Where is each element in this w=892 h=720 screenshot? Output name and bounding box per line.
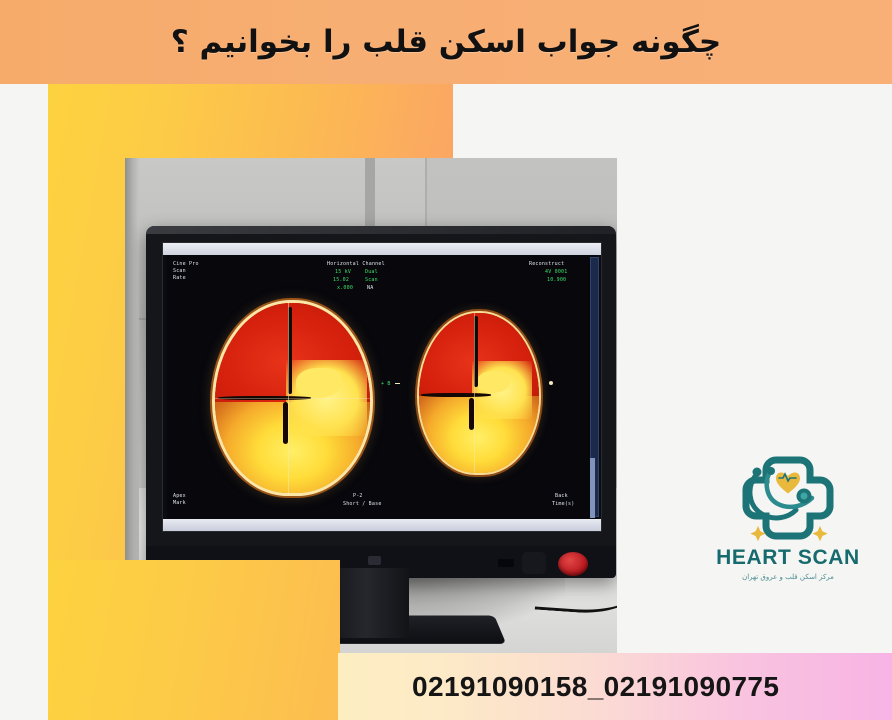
monitor-brand-logo (368, 556, 381, 565)
poster-canvas: چگونه جواب اسکن قلب را بخوانیم ؟ Cine Pr… (0, 0, 892, 720)
screen-title-reconstruct: Reconstruct (529, 261, 564, 268)
heart-scan-logo-mark (724, 452, 852, 548)
scan-scrollbar-thumb[interactable] (590, 458, 595, 518)
header-banner: چگونه جواب اسکن قلب را بخوانیم ؟ (0, 0, 892, 84)
cardiac-perfusion-scan-right (419, 313, 539, 473)
brand-logo: HEART SCAN مرکز اسکن قلب و عروق تهران (700, 452, 876, 592)
app-statusbar (163, 519, 601, 531)
scan-bright-core-right (477, 371, 511, 393)
stethoscope-earpiece-right (767, 467, 775, 475)
tick-marker-right (549, 381, 553, 385)
screen-label-scan: Scan (173, 268, 186, 275)
monitor-port (498, 559, 514, 567)
cardiac-perfusion-scan-left (215, 303, 370, 493)
screen-value-recon-1: 4V 0001 (545, 269, 567, 276)
screen-label-p2: P-2 (353, 493, 363, 500)
scan-bright-core-left (296, 368, 343, 398)
screen-value-num: 15.02 (333, 277, 349, 284)
computer-monitor: Cine Pro Scan Rate Horizontal Channel 15… (146, 226, 616, 578)
screen-value-recon-2: 10.900 (547, 277, 566, 284)
tick-marker-center (395, 383, 400, 384)
screen-title-channel: Horizontal Channel (327, 261, 385, 268)
screen-label-time: Time(s) (552, 501, 574, 508)
phone-numbers[interactable]: 02191090158_02191090775 (412, 671, 779, 703)
scan-scrollbar[interactable] (590, 257, 599, 517)
crosshair-vertical-right (474, 313, 475, 473)
scan-viewport: Cine Pro Scan Rate Horizontal Channel 15… (167, 255, 597, 519)
app-toolbar[interactable] (163, 243, 601, 255)
screen-value-dual: Dual (365, 269, 378, 276)
gold-accent-panel-lower (48, 560, 340, 720)
monitor-cable (535, 567, 617, 617)
contact-bar: 02191090158_02191090775 (338, 653, 892, 720)
screen-label-mark: Mark (173, 500, 186, 507)
logo-subtitle: مرکز اسکن قلب و عروق تهران (742, 573, 834, 581)
monitor-screen: Cine Pro Scan Rate Horizontal Channel 15… (162, 242, 602, 532)
monitor-bezel (146, 226, 616, 234)
screen-value-scan: Scan (365, 277, 378, 284)
screen-label-back: Back (555, 493, 568, 500)
logo-wordmark: HEART SCAN (716, 546, 860, 570)
heart-ecg-icon (776, 473, 800, 494)
page-title: چگونه جواب اسکن قلب را بخوانیم ؟ (171, 24, 721, 60)
screen-value-thin: x.000 (337, 285, 353, 292)
stethoscope-chestpiece-inner (801, 493, 808, 500)
crosshair-horizontal-left (215, 398, 370, 399)
stethoscope-earpiece-left (753, 468, 762, 477)
screen-marker-label: + B (381, 381, 391, 388)
screen-value-na: NA (367, 285, 373, 292)
screen-label-short-base: Short / Base (343, 501, 382, 508)
sparkle-icon-right (812, 526, 827, 541)
scan-boundary-right (421, 393, 491, 397)
screen-label-cine: Cine Pro (173, 261, 199, 268)
screen-label-rate: Rate (173, 275, 186, 282)
screen-value-kv: 15 kV (335, 269, 351, 276)
screen-label-apex: Apex (173, 493, 186, 500)
monitor-stand-neck (337, 568, 409, 638)
